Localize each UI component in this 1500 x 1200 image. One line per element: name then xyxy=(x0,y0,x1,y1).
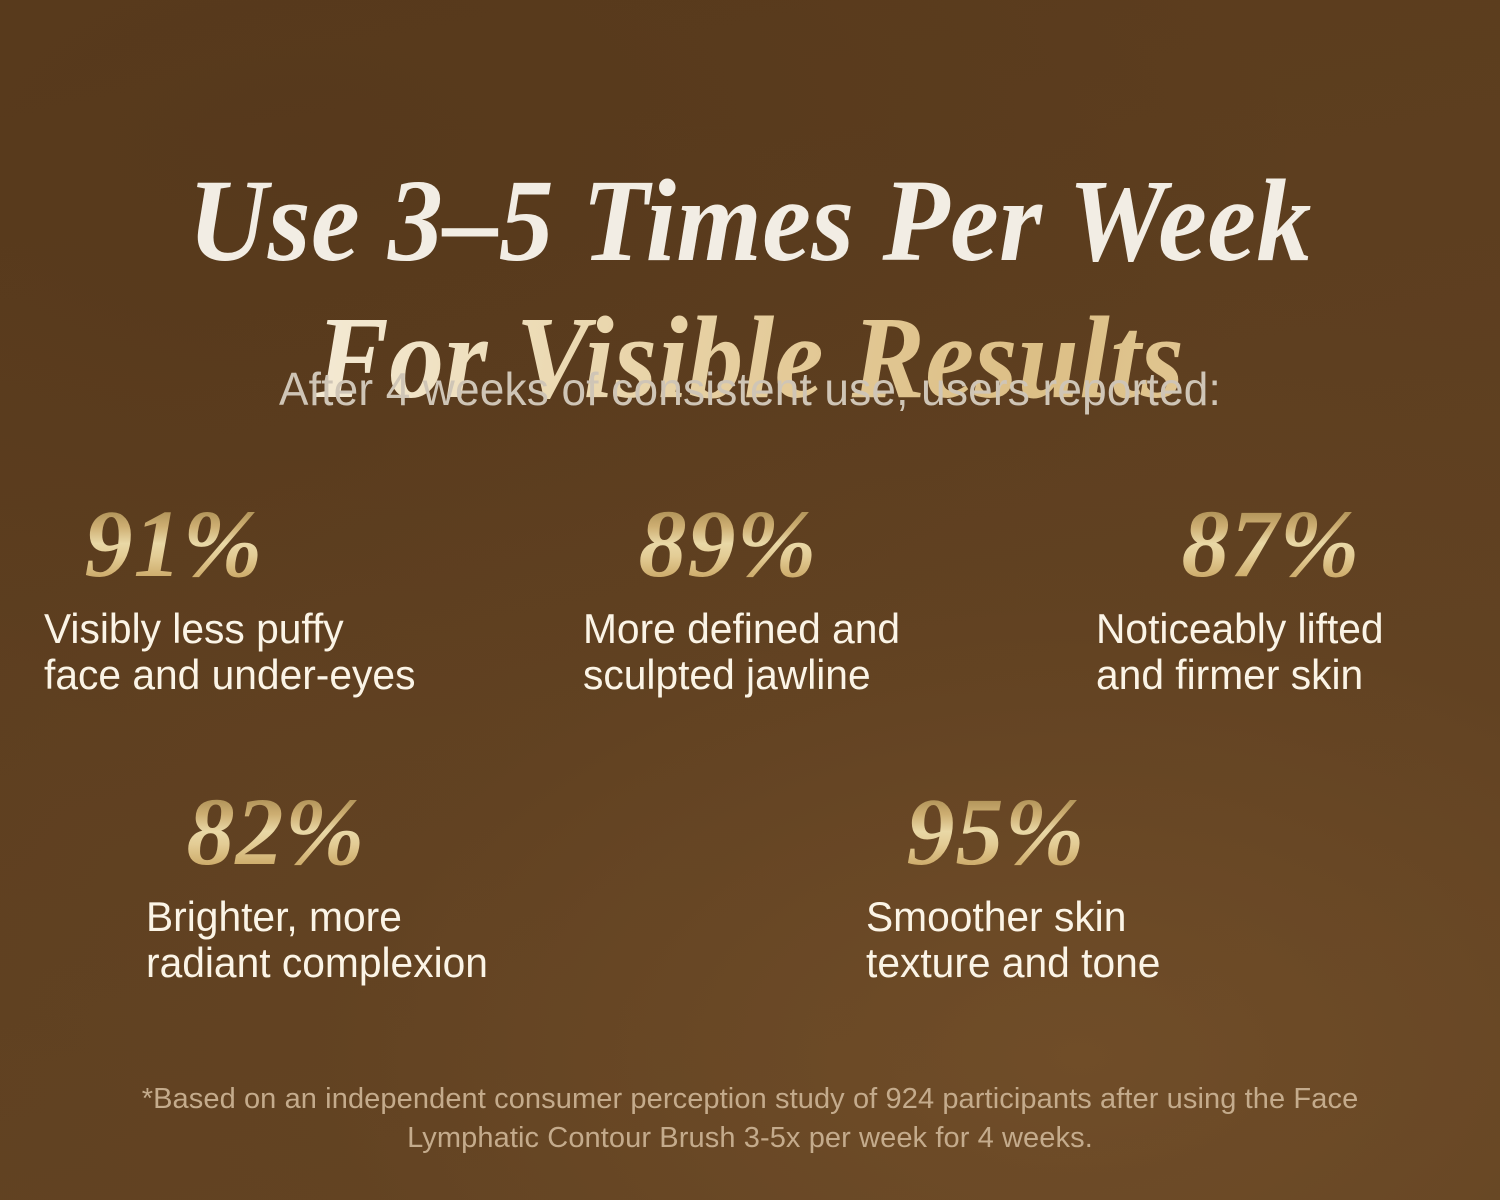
stat-description: Visibly less puffy face and under-eyes xyxy=(44,606,500,698)
footnote-line-2: Lymphatic Contour Brush 3-5x per week fo… xyxy=(26,1119,1474,1158)
stat-description-line-1: Brighter, more xyxy=(146,894,573,940)
subtitle: After 4 weeks of consistent use, users r… xyxy=(30,364,1470,415)
stat-description-line-2: sculpted jawline xyxy=(583,652,971,698)
stat-item: 89% More defined and sculpted jawline xyxy=(583,496,983,698)
stat-value-wrap: 91% xyxy=(44,496,514,592)
stat-item: 91% Visibly less puffy face and under-ey… xyxy=(44,496,514,698)
stat-description-line-1: Visibly less puffy xyxy=(44,606,500,652)
stat-value-wrap: 87% xyxy=(1096,496,1456,592)
footnote-disclaimer: *Based on an independent consumer percep… xyxy=(0,1080,1500,1158)
stat-description: Smoother skin texture and tone xyxy=(866,894,1235,986)
stat-description-line-2: radiant complexion xyxy=(146,940,573,986)
footnote-line-1: *Based on an independent consumer percep… xyxy=(26,1080,1474,1119)
stat-description: Brighter, more radiant complexion xyxy=(146,894,573,986)
stat-description: Noticeably lifted and firmer skin xyxy=(1096,606,1445,698)
stat-description-line-2: and firmer skin xyxy=(1096,652,1445,698)
stat-value: 89% xyxy=(639,490,818,597)
stat-description-line-2: texture and tone xyxy=(866,940,1235,986)
headline-line-1: Use 3–5 Times Per Week xyxy=(53,153,1448,290)
stat-description-line-1: Noticeably lifted xyxy=(1096,606,1445,652)
stat-value-wrap: 82% xyxy=(146,784,586,880)
stat-item: 82% Brighter, more radiant complexion xyxy=(146,784,586,986)
stat-description-line-2: face and under-eyes xyxy=(44,652,500,698)
stat-value-wrap: 89% xyxy=(583,496,983,592)
stat-value: 87% xyxy=(1182,490,1361,597)
stat-value-wrap: 95% xyxy=(866,784,1246,880)
stat-description-line-1: Smoother skin xyxy=(866,894,1235,940)
stat-value: 82% xyxy=(187,778,366,885)
results-infographic: Use 3–5 Times Per Week For Visible Resul… xyxy=(0,0,1500,1200)
stat-description: More defined and sculpted jawline xyxy=(583,606,971,698)
stat-item: 87% Noticeably lifted and firmer skin xyxy=(1096,496,1456,698)
stat-value: 91% xyxy=(85,490,264,597)
stat-value: 95% xyxy=(907,778,1086,885)
stat-description-line-1: More defined and xyxy=(583,606,971,652)
stat-item: 95% Smoother skin texture and tone xyxy=(866,784,1246,986)
